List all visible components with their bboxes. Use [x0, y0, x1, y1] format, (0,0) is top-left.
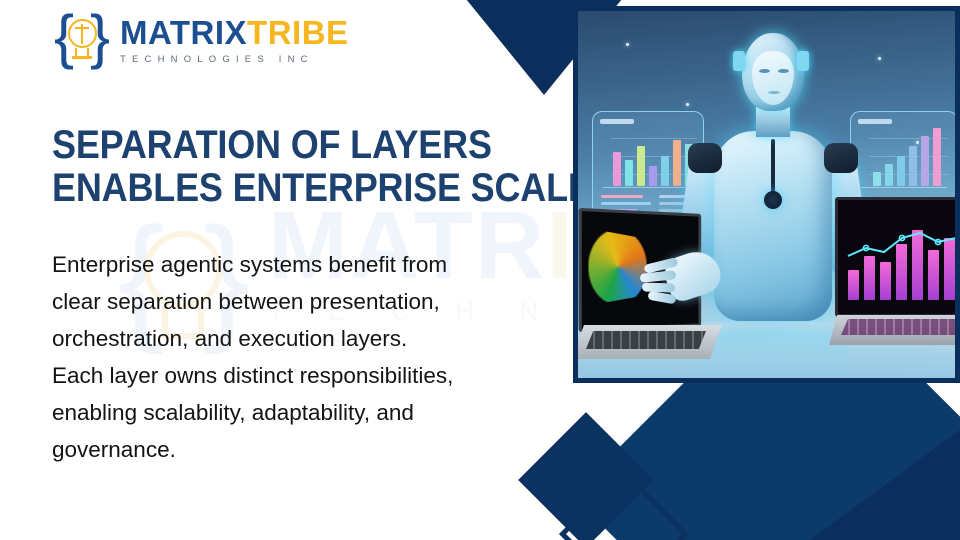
holo-bar: [909, 146, 917, 186]
holo-bar: [613, 152, 621, 186]
hero-image: [573, 6, 960, 383]
logo-text: MATRIXTRIBE TECHNOLOGIES INC: [120, 16, 349, 65]
bulb-neck-glyph: [75, 48, 89, 56]
robot-finger: [642, 282, 675, 292]
holo-legend-line: [601, 195, 643, 198]
bulb-base-glyph: [72, 56, 92, 59]
brand-logo[interactable]: { } MATRIXTRIBE TECHNOLOGIES INC: [54, 14, 349, 66]
robot-ear-right: [797, 51, 809, 71]
sparkle-icon: [878, 57, 881, 60]
robot-shoulder-right: [824, 143, 858, 173]
page-title-line-1: SEPARATION OF LAYERS: [52, 124, 475, 167]
robot-eye-right: [778, 69, 789, 73]
laptop-right: [835, 197, 955, 357]
body-line-1: Enterprise agentic systems benefit from: [52, 246, 512, 283]
holo-bar: [625, 160, 633, 186]
body-line-4: Each layer owns distinct responsibilitie…: [52, 357, 512, 394]
bulb-filament-cross-glyph: [75, 27, 89, 29]
robot-chest-core: [764, 191, 782, 209]
logo-wordmark: MATRIXTRIBE: [120, 16, 349, 49]
slide-canvas: { } MATRIX T E C H N O L O G I E S { } M…: [0, 0, 960, 540]
logo-word-secondary: TRIBE: [247, 14, 349, 51]
robot-eye-left: [759, 69, 770, 73]
holo-legend-line: [601, 202, 651, 205]
sparkle-icon: [686, 103, 689, 106]
laptop-left-keyboard: [586, 331, 706, 349]
laptop-chart-line: [846, 230, 955, 260]
hero-image-content: [578, 11, 955, 378]
laptop-right-keyboard: [841, 319, 955, 335]
holo-bar: [673, 140, 681, 186]
holo-bar: [637, 146, 645, 186]
holo-bar: [921, 136, 929, 186]
holo-axis: [603, 187, 695, 188]
holo-axis: [861, 187, 947, 188]
robot-shoulder-left: [688, 143, 722, 173]
page-title-line-2: ENABLES ENTERPRISE SCALE: [52, 167, 475, 210]
holo-bar: [649, 166, 657, 186]
holo-bar: [661, 156, 669, 186]
holo-bar: [885, 164, 893, 186]
robot-neck: [756, 107, 790, 137]
robot-ear-left: [733, 51, 745, 71]
body-copy: Enterprise agentic systems benefit from …: [52, 246, 512, 468]
holo-bar: [873, 172, 881, 186]
holo-bar: [933, 128, 941, 186]
body-line-6: governance.: [52, 431, 512, 468]
logo-word-primary: MATRIX: [120, 14, 247, 51]
laptop-chart-bar: [848, 270, 859, 300]
body-line-5: enabling scalability, adaptability, and: [52, 394, 512, 431]
laptop-left-screen-graphic: [588, 228, 647, 305]
holo-bar: [897, 156, 905, 186]
logo-tagline: TECHNOLOGIES INC: [120, 54, 349, 65]
laptop-chart-bar: [880, 262, 891, 300]
laptop-right-screen: [835, 197, 955, 317]
lightbulb-in-braces-icon: { }: [54, 14, 110, 66]
body-line-3: orchestration, and execution layers.: [52, 320, 512, 357]
robot-mouth: [768, 91, 780, 94]
body-line-2: clear separation between presentation,: [52, 283, 512, 320]
robot-spine-detail: [771, 139, 775, 195]
holo-panel-title-bar: [858, 119, 892, 124]
holo-gridline: [611, 138, 697, 139]
sparkle-icon: [626, 43, 629, 46]
holo-panel-title-bar: [600, 119, 634, 124]
laptop-chart-bar: [864, 256, 875, 300]
page-title: SEPARATION OF LAYERS ENABLES ENTERPRISE …: [52, 124, 475, 210]
